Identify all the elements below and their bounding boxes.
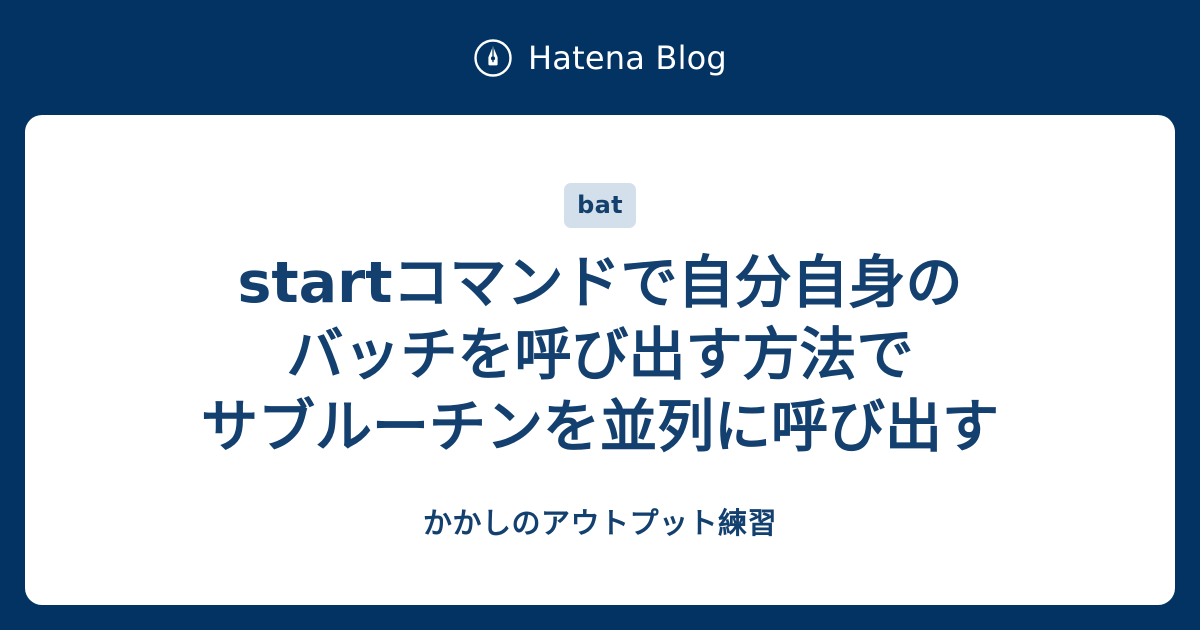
hatena-blog-service-name: Hatena Blog [528,42,727,74]
entry-card: bat startコマンドで自分自身の バッチを呼び出す方法で サブルーチンを並… [25,115,1175,605]
entry-title: startコマンドで自分自身の バッチを呼び出す方法で サブルーチンを並列に呼び… [65,247,1135,463]
category-tag-row: bat [65,183,1135,228]
category-tag-bat[interactable]: bat [564,183,636,228]
fountain-pen-nib-circle-icon [473,38,513,78]
hatena-blog-header: Hatena Blog [0,0,1200,115]
entry-title-line: startコマンドで自分自身の [65,247,1135,319]
entry-title-line: サブルーチンを並列に呼び出す [65,391,1135,463]
blog-title: かかしのアウトプット練習 [65,506,1135,541]
entry-title-line: バッチを呼び出す方法で [65,319,1135,391]
